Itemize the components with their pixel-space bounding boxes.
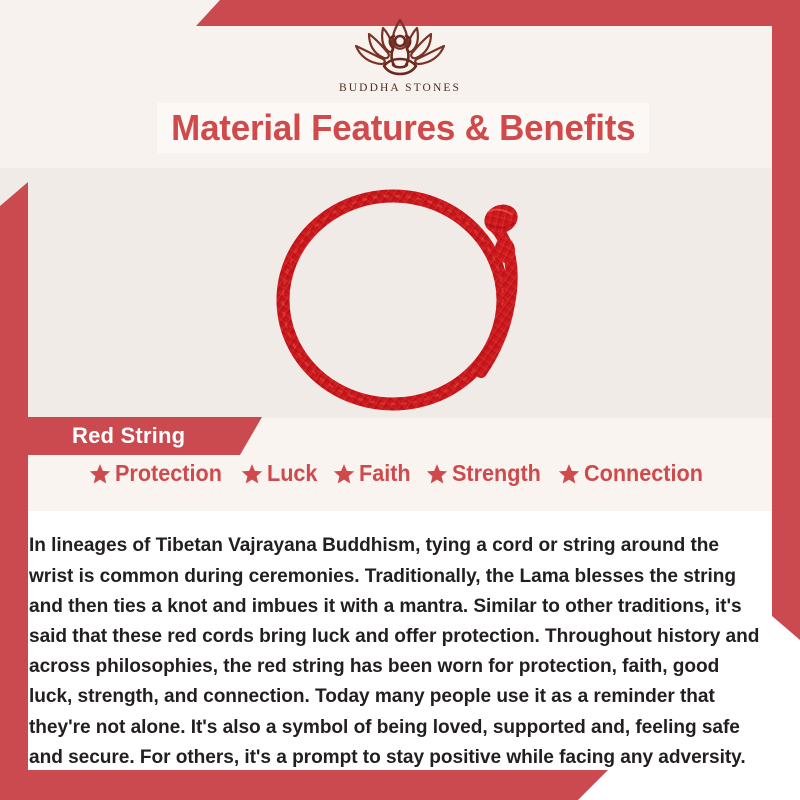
feature-item-faith: Faith — [333, 462, 414, 485]
ribbon-label: Red String — [72, 425, 185, 447]
lotus-meditation-icon — [336, 14, 464, 80]
headline-band: Material Features & Benefits — [157, 103, 649, 153]
product-image-red-string-bracelet — [243, 172, 553, 422]
feature-item-protection: Protection — [89, 462, 229, 485]
decor-bar-right — [772, 0, 800, 640]
feature-label: Faith — [359, 462, 411, 485]
decor-bar-left — [0, 182, 28, 800]
star-icon — [241, 463, 263, 485]
feature-item-connection: Connection — [558, 462, 711, 485]
star-icon — [333, 463, 355, 485]
feature-item-strength: Strength — [426, 462, 547, 485]
feature-label: Protection — [115, 462, 222, 485]
feature-label: Connection — [584, 462, 703, 485]
brand-logo: BUDDHA STONES — [0, 14, 800, 94]
star-icon — [558, 463, 580, 485]
star-icon — [89, 463, 111, 485]
feature-label: Luck — [267, 462, 317, 485]
feature-label: Strength — [452, 462, 541, 485]
star-icon — [426, 463, 448, 485]
section-ribbon-red-string: Red String — [0, 417, 262, 455]
brand-name: BUDDHA STONES — [0, 82, 800, 94]
feature-item-luck: Luck — [241, 462, 321, 485]
infographic-poster: BUDDHA STONES Material Features & Benefi… — [0, 0, 800, 800]
page-title: Material Features & Benefits — [171, 110, 635, 146]
feature-list: Protection Luck Faith Strength Connectio — [0, 462, 800, 485]
body-paragraph: In lineages of Tibetan Vajrayana Buddhis… — [29, 530, 760, 772]
